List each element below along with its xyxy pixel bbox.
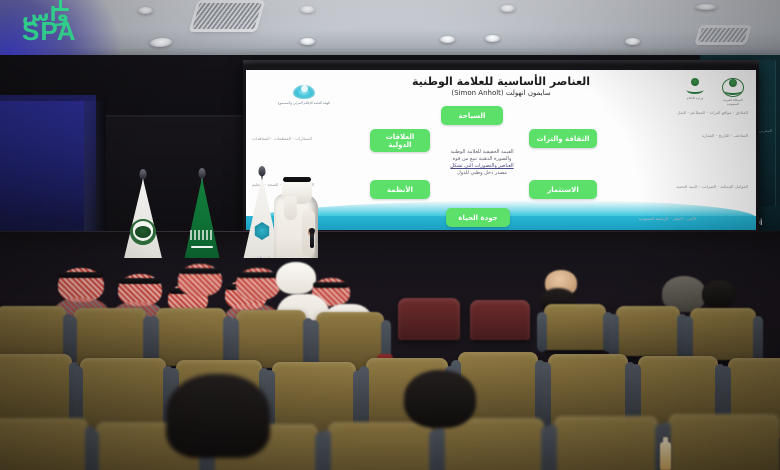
speaker-person (268, 166, 326, 270)
slide-side-note-4: السفارات - المنظمات - المعاهدات (252, 136, 312, 141)
auditorium-seat (398, 298, 460, 340)
attendee-head (404, 370, 476, 428)
slide-center-line-2: والصورة الذهنية تنبع من قوة (434, 156, 530, 163)
auditorium-seat (328, 422, 432, 470)
handheld-microphone-icon (310, 232, 314, 248)
slide-side-note-6: الأمن - التنقل - الرياضة السعودية (638, 216, 696, 221)
auditorium-seat (544, 304, 606, 350)
flag-finial (199, 168, 206, 178)
green-circular-crest-icon (130, 219, 156, 245)
igal-band (313, 282, 349, 288)
spa-watermark: واس SPA (8, 2, 104, 48)
flag-cloth (182, 178, 222, 270)
slide-box-tourism: السياحة (441, 106, 503, 125)
attendee-head (702, 280, 736, 308)
recessed-downlight-icon (695, 4, 717, 10)
slide-box-regulations: الأنظمة (370, 180, 430, 199)
attendee-head (178, 264, 222, 296)
slide-side-note-1: الفنادق - مواقع التراث - المطاعم - النقل (677, 110, 748, 115)
recessed-downlight-icon (149, 38, 174, 47)
slide-center-line-3: العناصر والتصورات التي تشكل (434, 163, 530, 170)
attendee-head (276, 262, 316, 294)
slide-center-line-4: مصدر دخل وطني للدول (434, 170, 530, 177)
attendee-head (58, 268, 104, 302)
slide-title: العناصر الأساسية للعلامة الوطنية (246, 75, 756, 88)
slide-center-line-1: القيمة الحقيقية للعلامة الوطنية (434, 149, 530, 156)
auditorium-seat (690, 308, 756, 360)
slide-center-paragraph: القيمة الحقيقية للعلامة الوطنية والصورة … (434, 149, 530, 177)
slide-box-investment: الاستثمار (529, 180, 597, 199)
air-vent-icon (192, 3, 261, 29)
recessed-downlight-icon (300, 6, 315, 13)
shahada-text-icon (190, 230, 214, 240)
attendee-head (166, 374, 270, 458)
flag-finial (259, 166, 266, 176)
spa-latin-text: SPA (22, 18, 77, 44)
slide-box-culture-heritage: الثقافة والتراث (529, 129, 597, 148)
saudi-flag (182, 162, 222, 270)
attendee-head (236, 268, 280, 300)
air-vent-icon (698, 28, 748, 42)
igal-band (59, 272, 103, 278)
recessed-downlight-icon (440, 36, 455, 43)
slide-logo-right-caption-2: المملكة العربية السعودية (720, 98, 746, 106)
slide-box-quality-of-life: جودة الحياة (446, 208, 510, 227)
palm-swords-icon (53, 0, 69, 15)
recessed-downlight-icon (485, 35, 500, 42)
slide-side-note-2: المتاحف - التاريخ - العمارة (702, 133, 748, 138)
igal-band (119, 278, 161, 284)
recessed-downlight-icon (300, 38, 315, 45)
auditorium-seat (470, 300, 530, 340)
slide-box-international-relations: العلاقات الدولية (370, 129, 430, 152)
recessed-downlight-icon (625, 38, 640, 45)
auditorium-seat (616, 306, 680, 356)
water-bottle (660, 442, 671, 470)
flag-finial (140, 169, 147, 179)
auditorium-seat (156, 308, 226, 366)
igal-band (179, 268, 221, 274)
slide-logo-left-caption: الهيئة العامة للإعلام المرئي والمسموع (264, 101, 344, 105)
conference-hall-photo: المغربي Almaghrabi المغربي الهيئة العامة… (0, 0, 780, 470)
slide-side-note-3: العوامل الممكنة - الضرائب - البنية التحت… (676, 184, 748, 189)
speaker-igal (283, 177, 311, 182)
sword-icon (191, 246, 213, 248)
auditorium-seat (554, 416, 658, 470)
auditorium-seat (0, 418, 88, 470)
slide-subtitle: سايمون انهولت (Simon Anholt) (246, 89, 756, 97)
recessed-downlight-icon (500, 5, 515, 12)
recessed-downlight-icon (138, 7, 153, 14)
auditorium-seat (668, 414, 780, 470)
igal-band (237, 272, 279, 278)
